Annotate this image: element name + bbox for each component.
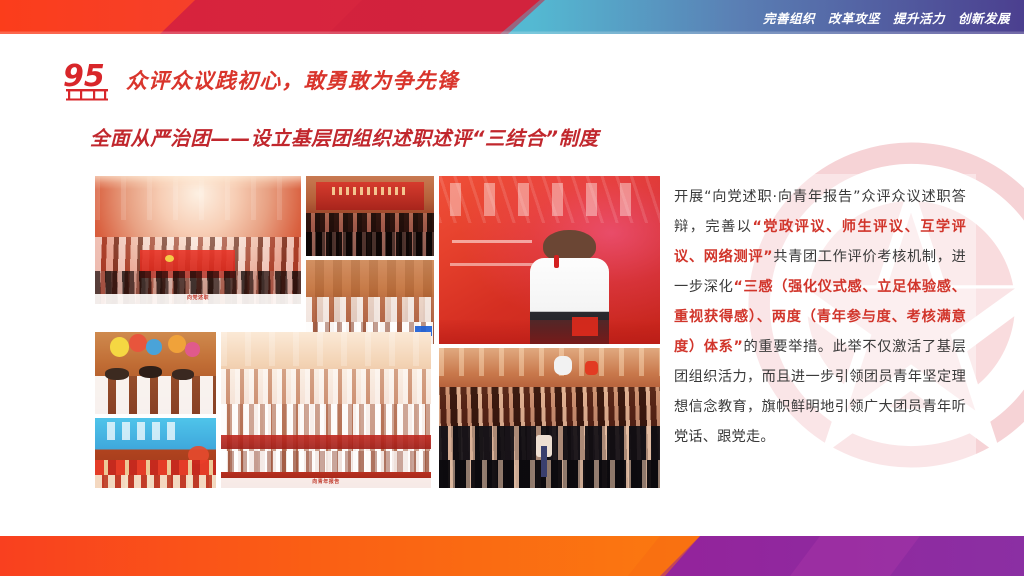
photo-auditorium: 向青年报告 bbox=[221, 332, 431, 488]
photo-balloons bbox=[95, 332, 216, 414]
photo-caption-1: 向党述职 bbox=[95, 294, 301, 304]
section-subtitle: 全面从严治团——设立基层团组织述职述评“三结合”制度 bbox=[90, 122, 599, 151]
photo-blue-stage bbox=[95, 418, 216, 488]
description-paragraph: 开展“向党述职·向青年报告”众评众议述职答辩，完善以“党政评议、师生评议、互学评… bbox=[674, 182, 966, 452]
bottom-banner-shapes bbox=[0, 536, 1024, 576]
photo-speaker-mic bbox=[439, 176, 660, 344]
photo-caption-7: 向青年报告 bbox=[221, 478, 431, 488]
banner-slogan-1: 完善组织 bbox=[763, 8, 815, 27]
bottom-banner bbox=[0, 536, 1024, 576]
photo-raised-hands bbox=[439, 348, 660, 488]
banner-slogan-3: 提升活力 bbox=[893, 8, 945, 27]
logo-95-text: 95 bbox=[64, 59, 105, 94]
anniversary-95-logo-icon: 95 bbox=[64, 58, 116, 102]
slide-canvas: 完善组织 改革攻坚 提升活力 创新发展 95 众评众议践初心，敢勇敢为争先锋 全… bbox=[0, 0, 1024, 576]
page-title: 众评众议践初心，敢勇敢为争先锋 bbox=[126, 65, 459, 95]
banner-slogan-2: 改革攻坚 bbox=[828, 8, 880, 27]
photo-audience-stage bbox=[306, 176, 434, 256]
photo-hall-flag: 向党述职 bbox=[95, 176, 301, 304]
title-row: 95 众评众议践初心，敢勇敢为争先锋 bbox=[64, 58, 459, 102]
banner-slogan-group: 完善组织 改革攻坚 提升活力 创新发展 bbox=[763, 0, 1010, 34]
banner-slogan-4: 创新发展 bbox=[958, 8, 1010, 27]
top-banner: 完善组织 改革攻坚 提升活力 创新发展 bbox=[0, 0, 1024, 34]
photo-collage: 向党述职 bbox=[95, 176, 660, 476]
